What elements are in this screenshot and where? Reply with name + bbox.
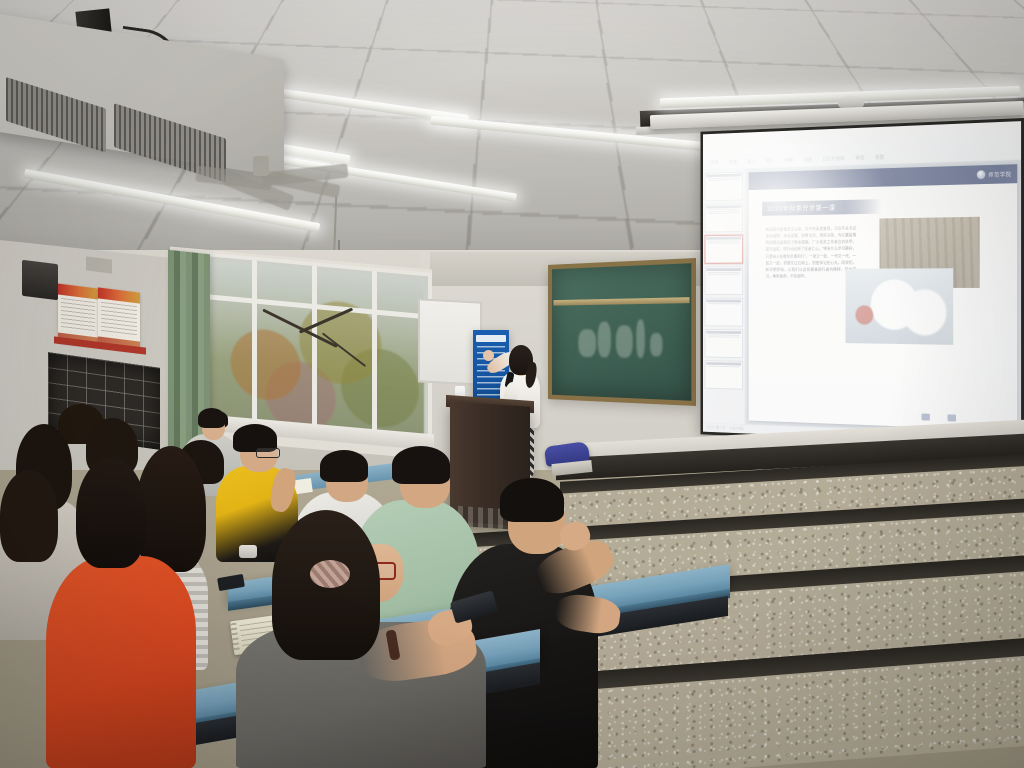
- student-hair: [198, 408, 225, 428]
- eyeglasses-icon: [256, 448, 280, 458]
- poster-text-lines: [101, 302, 137, 338]
- chalk-writing: [578, 329, 596, 357]
- current-slide: 师范学院 2020年秋季开学第一课 新冠肺炎疫情发生以来，党中央高度重视，习近平…: [749, 164, 1017, 431]
- student-hair: [0, 470, 58, 562]
- ribbon-tab-home[interactable]: 开始: [726, 158, 739, 167]
- ribbon-tab-slideshow[interactable]: 幻灯片放映: [820, 154, 847, 163]
- status-language: 中文(中国): [729, 426, 743, 431]
- slide-thumbnail[interactable]: [705, 298, 743, 327]
- ribbon-tab-insert[interactable]: 插入: [745, 157, 758, 166]
- ribbon-tab-transitions[interactable]: 切换: [782, 156, 796, 165]
- student-hair: [500, 478, 564, 522]
- powerpoint-body: 师范学院 2020年秋季开学第一课 新冠肺炎疫情发生以来，党中央高度重视，习近平…: [703, 160, 1021, 435]
- slide-thumbnail[interactable]: [705, 203, 743, 232]
- chalk-writing: [616, 325, 633, 358]
- slide-title: 2020年秋季开学第一课: [767, 203, 835, 214]
- ribbon-tab-animations[interactable]: 动画: [801, 155, 815, 164]
- banner-title-block: [476, 335, 506, 342]
- ribbon-tab-review[interactable]: 审阅: [853, 153, 867, 162]
- ribbon-tab-view[interactable]: 视图: [872, 153, 886, 162]
- slide-footer-icon: [922, 413, 930, 420]
- chalkboard-frame: [548, 258, 696, 406]
- student-orange-shirt: [46, 556, 196, 768]
- wall-poster: [98, 287, 140, 350]
- powerpoint-window: 文件 开始 插入 设计 切换 动画 幻灯片放映 审阅 视图: [703, 121, 1021, 445]
- university-logo-icon: [977, 170, 986, 179]
- hair-scrunchie: [310, 560, 350, 588]
- slide-thumbnail[interactable]: [705, 266, 743, 295]
- slide-title-band: 2020年秋季开学第一课: [762, 199, 881, 216]
- university-logo-text: 师范学院: [988, 170, 1011, 179]
- slide-footer-icon: [948, 414, 956, 421]
- slide-thumbnail[interactable]: [705, 172, 743, 202]
- student-hair: [136, 446, 206, 572]
- ribbon-tab-file[interactable]: 文件: [708, 158, 721, 167]
- slide-thumbnail-selected[interactable]: [705, 235, 743, 264]
- student-hair: [76, 458, 146, 568]
- window-mullion: [312, 266, 317, 434]
- teacher-hand: [483, 350, 494, 361]
- ribbon-tab-design[interactable]: 设计: [763, 157, 777, 166]
- chalk-writing: [636, 319, 645, 358]
- poster-text-lines: [61, 298, 95, 334]
- slide-body-text: 新冠肺炎疫情发生以来，党中央高度重视，习近平总书记亲自指挥、亲自部署，统筹全局、…: [766, 225, 857, 280]
- chalk-writing: [598, 322, 611, 358]
- slide-header-band: 师范学院: [749, 164, 1017, 190]
- chalk-writing: [650, 333, 662, 356]
- chalkboard: [552, 263, 692, 401]
- slide-stage: 师范学院 2020年秋季开学第一课 新冠肺炎疫情发生以来，党中央高度重视，习近平…: [745, 160, 1021, 435]
- status-slide-number: 幻灯片 第 3 张: [706, 425, 725, 430]
- window-mullion: [252, 260, 257, 428]
- slide-thumbnail[interactable]: [705, 329, 743, 358]
- slide-image-bottom: [845, 268, 953, 345]
- chalk-tray: [553, 297, 689, 305]
- wall-speaker-icon: [22, 260, 58, 300]
- cup: [239, 545, 257, 558]
- projection-screen: 文件 开始 插入 设计 切换 动画 幻灯片放映 审阅 视图: [701, 118, 1024, 448]
- window-mullion: [372, 271, 377, 439]
- student-hair: [392, 446, 450, 484]
- classroom-photo: 文件 开始 插入 设计 切换 动画 幻灯片放映 审阅 视图: [0, 0, 1024, 768]
- slide-thumbnail-panel[interactable]: [703, 169, 745, 424]
- ceiling-fan-icon: [253, 156, 269, 176]
- student-hair: [320, 450, 368, 482]
- slide-thumbnail[interactable]: [705, 360, 743, 390]
